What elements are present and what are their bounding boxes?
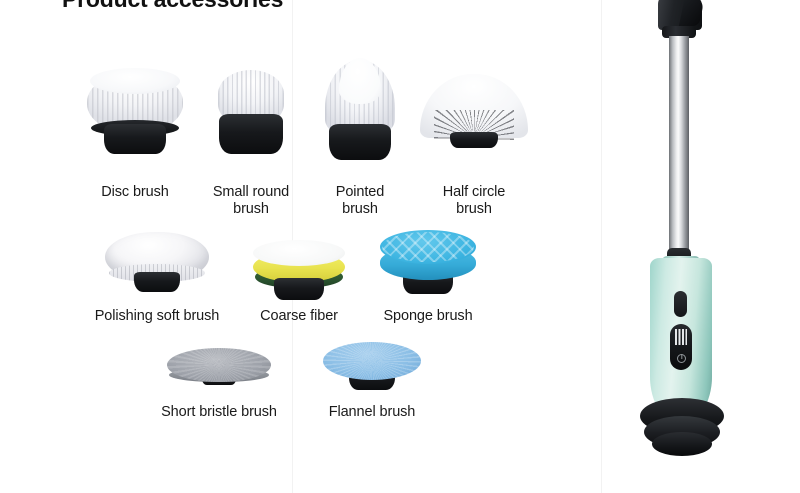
accessory-disc-brush[interactable]: Disc brush: [70, 72, 200, 201]
polishing-soft-brush-hub: [134, 272, 180, 292]
accessory-label-coarse-fiber: Coarse fiber: [242, 308, 356, 325]
panel-divider-right: [601, 0, 602, 493]
accessory-label-small-round-brush: Small round brush: [190, 184, 312, 218]
accessory-pointed-brush[interactable]: Pointed brush: [305, 60, 415, 218]
sponge-brush-waffle-texture: [382, 232, 474, 262]
accessory-half-circle-brush[interactable]: Half circle brush: [412, 74, 536, 218]
small-round-brush-illustration: [190, 70, 312, 184]
accessory-label-flannel-brush: Flannel brush: [310, 404, 434, 421]
disc-brush-top-face: [90, 68, 180, 94]
accessory-label-short-bristle-brush: Short bristle brush: [140, 404, 298, 421]
accessory-label-polishing-soft-brush: Polishing soft brush: [78, 308, 236, 325]
sponge-brush-illustration: [366, 230, 490, 308]
flannel-brush-pad: [323, 342, 421, 380]
battery-indicator-icon: [675, 329, 687, 345]
half-circle-brush-hub: [450, 132, 498, 148]
accessory-flannel-brush[interactable]: Flannel brush: [310, 342, 434, 421]
short-bristle-brush-illustration: [140, 348, 298, 404]
power-button-icon[interactable]: [677, 354, 686, 363]
coarse-fiber-hub: [274, 278, 324, 300]
accessory-label-half-circle-brush: Half circle brush: [412, 184, 536, 218]
accessory-short-bristle-brush[interactable]: Short bristle brush: [140, 348, 298, 421]
accessory-label-pointed-brush: Pointed brush: [305, 184, 415, 218]
polishing-soft-brush-illustration: [78, 232, 236, 308]
page-title: Product accessories: [62, 0, 283, 13]
flannel-brush-illustration: [310, 342, 434, 404]
accessory-small-round-brush[interactable]: Small round brush: [190, 70, 312, 218]
product-accessories-image: Product accessories Disc brush Small rou…: [0, 0, 800, 493]
disc-brush-illustration: [70, 72, 200, 184]
half-circle-brush-illustration: [412, 74, 536, 184]
disc-brush-hub: [104, 124, 166, 154]
accessory-polishing-soft-brush[interactable]: Polishing soft brush: [78, 232, 236, 325]
accessory-coarse-fiber[interactable]: Coarse fiber: [242, 240, 356, 325]
coarse-fiber-white-layer: [253, 240, 345, 266]
short-bristle-brush-disc: [167, 348, 271, 382]
pointed-brush-hub: [329, 124, 391, 160]
accessory-label-sponge-brush: Sponge brush: [366, 308, 490, 325]
scrubber-telescopic-pole: [669, 36, 689, 254]
scrubber-release-slot[interactable]: [674, 291, 687, 317]
electric-spin-scrubber[interactable]: [636, 0, 786, 493]
accessory-sponge-brush[interactable]: Sponge brush: [366, 230, 490, 325]
accessory-label-disc-brush: Disc brush: [70, 184, 200, 201]
scrubber-brush-base-lower: [652, 432, 712, 456]
pointed-brush-illustration: [305, 60, 415, 184]
coarse-fiber-illustration: [242, 240, 356, 308]
small-round-brush-hub: [219, 114, 283, 154]
